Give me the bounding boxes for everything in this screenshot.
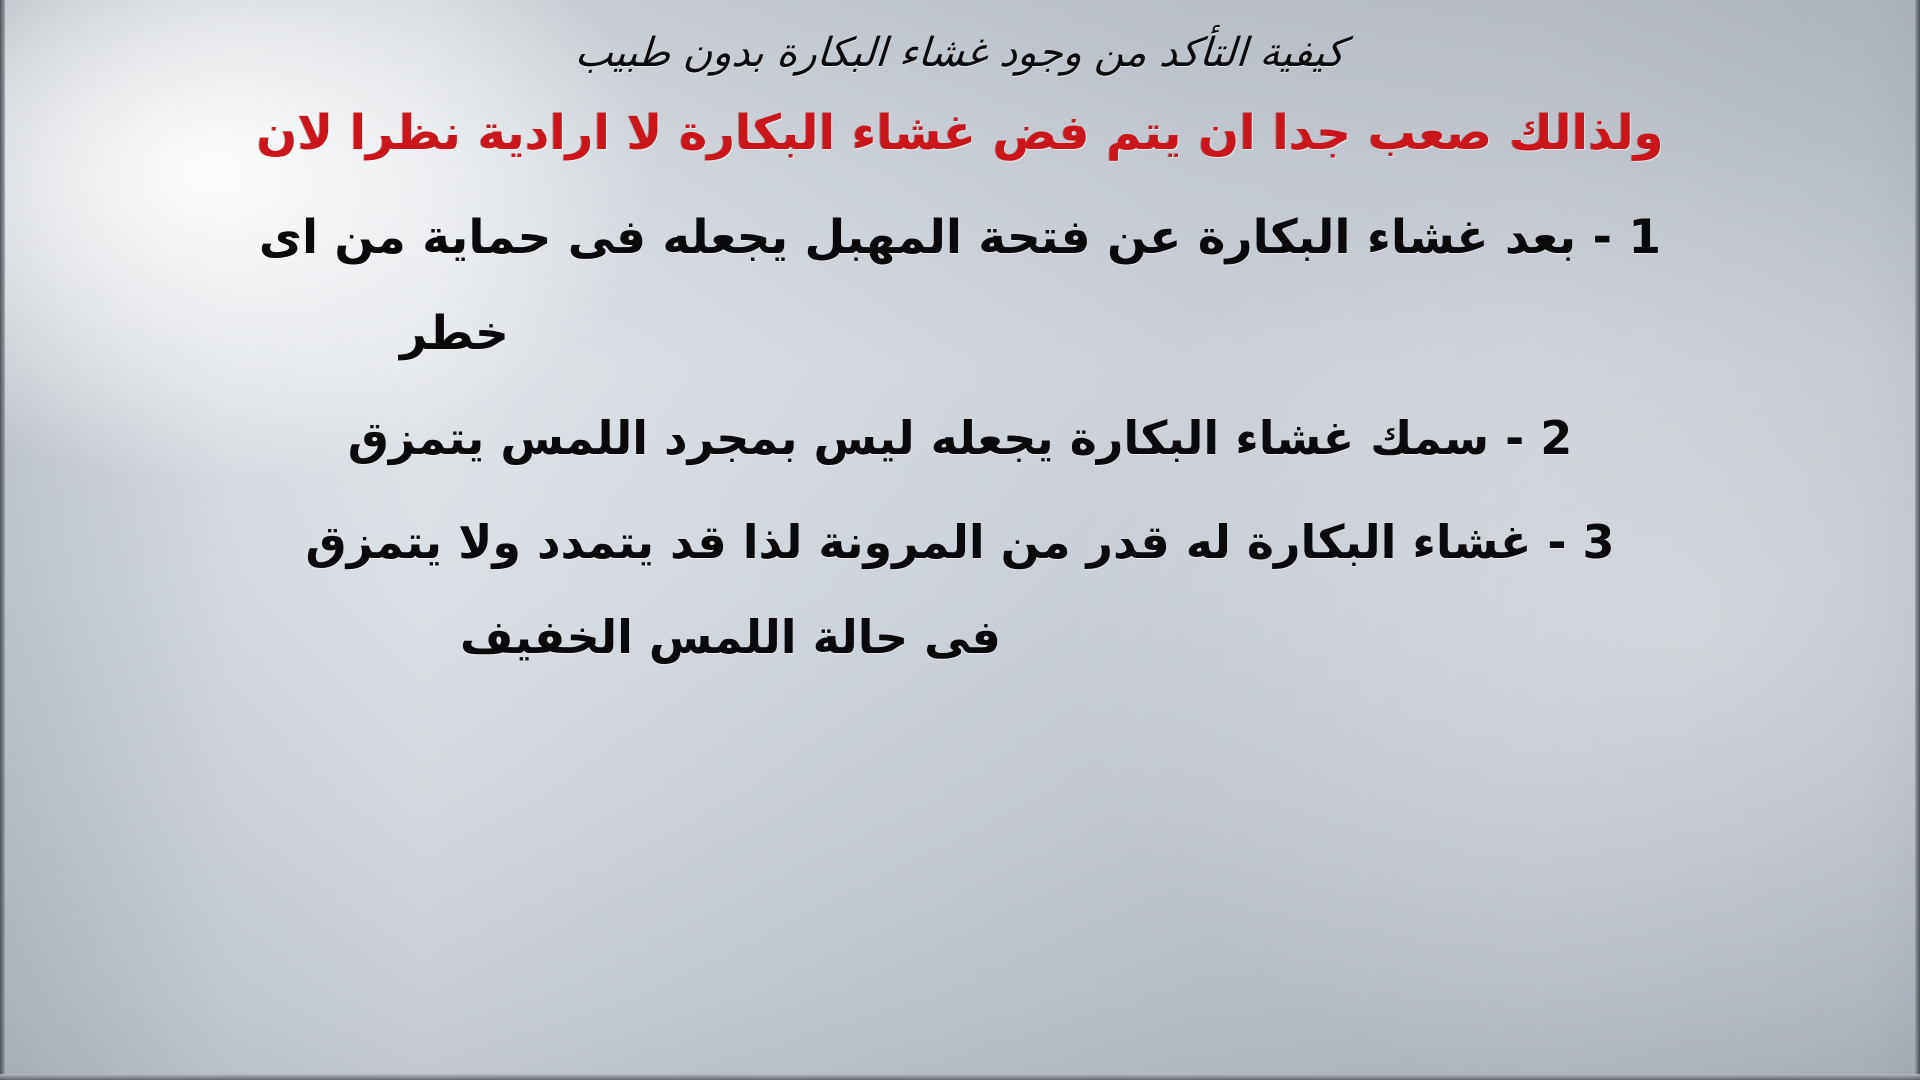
slide-title: كيفية التأكد من وجود غشاء البكارة بدون ط… — [38, 30, 1881, 76]
red-headline: ولذالك صعب جدا ان يتم فض غشاء البكارة لا… — [40, 108, 1880, 160]
point-3-line-2: فى حالة اللمس الخفيف — [40, 612, 1880, 664]
slide-canvas: كيفية التأكد من وجود غشاء البكارة بدون ط… — [0, 0, 1920, 1080]
point-3-line-1: 3 - غشاء البكارة له قدر من المرونة لذا ق… — [40, 517, 1880, 569]
numbered-points-block: 1 - بعد غشاء البكارة عن فتحة المهبل يجعل… — [40, 178, 1880, 1070]
point-2-line-1: 2 - سمك غشاء البكارة يجعله ليس بمجرد الل… — [40, 413, 1880, 465]
slide-content: كيفية التأكد من وجود غشاء البكارة بدون ط… — [0, 0, 1920, 1080]
point-1-line-2: خطر — [40, 308, 1880, 361]
point-1-line-1: 1 - بعد غشاء البكارة عن فتحة المهبل يجعل… — [40, 212, 1880, 265]
